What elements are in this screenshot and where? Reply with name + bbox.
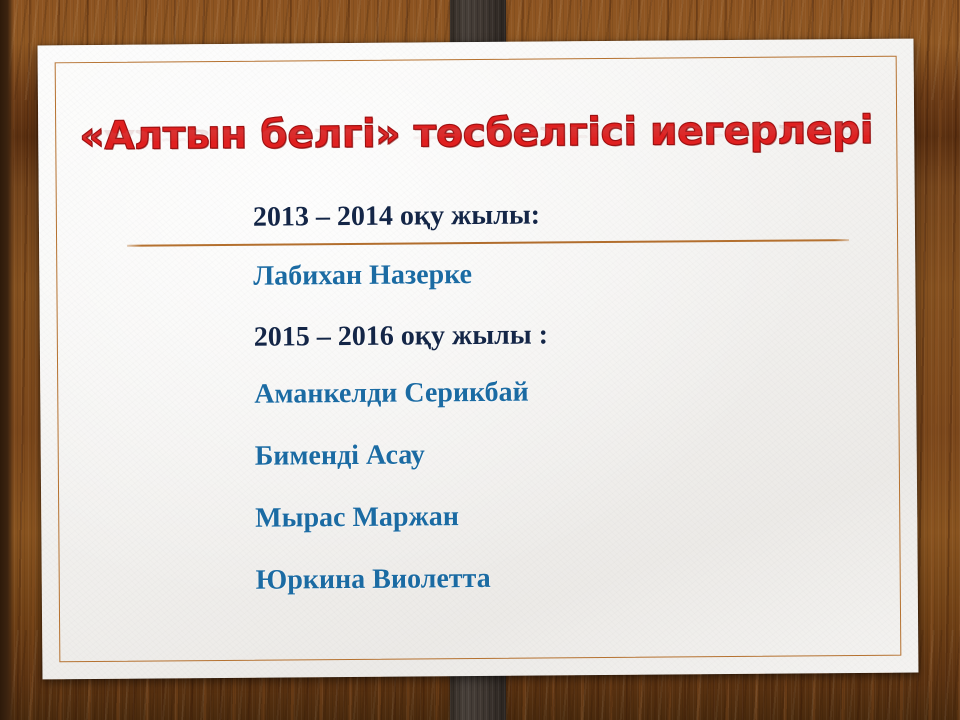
list-item-year-heading: 2015 – 2016 оқу жылы :: [254, 307, 894, 364]
list-item-recipient-name: Юркина Виолетта: [255, 545, 895, 612]
card-content: «Алтын белгі» төсбелгісі иегерлері «Алты…: [38, 39, 919, 680]
title-block: «Алтын белгі» төсбелгісі иегерлері «Алты…: [38, 111, 915, 196]
list-item-year-heading: 2013 – 2014 оқу жылы:: [253, 189, 893, 242]
award-recipients-list: 2013 – 2014 оқу жылы: Лабихан Назерке 20…: [253, 189, 896, 612]
list-item-recipient-name: Мырас Маржан: [255, 483, 895, 550]
slide: «Алтын белгі» төсбелгісі иегерлері «Алты…: [0, 0, 960, 720]
list-item-recipient-name: Бименді Асау: [255, 421, 895, 488]
slide-title: «Алтын белгі» төсбелгісі иегерлері: [38, 111, 914, 157]
list-item-recipient-name: Лабихан Назерке: [253, 237, 894, 312]
wood-board-left-edge: [0, 0, 14, 720]
slide-title-reflection: «Алтын белгі» төсбелгісі иегерлері: [38, 120, 914, 147]
list-item-recipient-name: Аманкелди Серикбай: [254, 359, 894, 426]
paper-card: «Алтын белгі» төсбелгісі иегерлері «Алты…: [38, 39, 919, 680]
